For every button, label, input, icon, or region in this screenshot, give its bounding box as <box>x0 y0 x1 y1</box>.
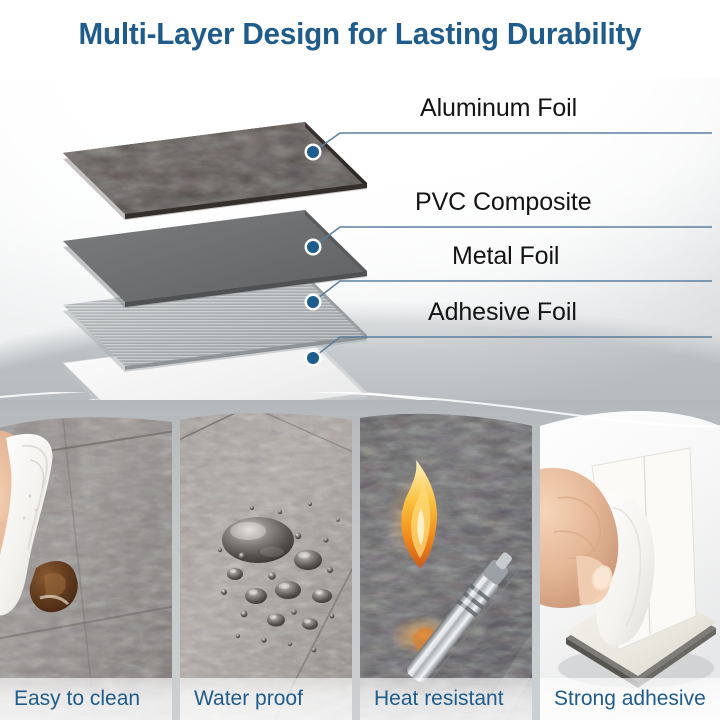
layer-label-aluminum-foil: Aluminum Foil <box>420 94 577 123</box>
feature-panel-heat-resistant[interactable]: Heat resistant <box>360 400 532 720</box>
feature-caption-heat-resistant: Heat resistant <box>360 678 532 720</box>
layer-label-adhesive-foil: Adhesive Foil <box>428 298 577 327</box>
feature-panel-strong-adhesive[interactable]: Strong adhesive <box>540 400 720 720</box>
feature-panel-easy-to-clean[interactable]: Easy to clean <box>0 400 172 720</box>
feature-caption-text: Water proof <box>180 687 303 711</box>
feature-caption-text: Heat resistant <box>360 687 504 711</box>
callout-leader-lines <box>0 0 720 420</box>
feature-panel-strip: Easy to clean <box>0 400 720 720</box>
feature-caption-strong-adhesive: Strong adhesive <box>540 678 720 720</box>
feature-caption-water-proof: Water proof <box>180 678 352 720</box>
feature-caption-easy-to-clean: Easy to clean <box>0 678 172 720</box>
feature-caption-text: Easy to clean <box>0 687 140 711</box>
layer-label-metal-foil: Metal Foil <box>452 242 559 271</box>
feature-caption-text: Strong adhesive <box>540 687 706 711</box>
infographic-canvas: Multi-Layer Design for Lasting Durabilit… <box>0 0 720 720</box>
layer-label-pvc-composite: PVC Composite <box>415 188 592 217</box>
feature-panel-water-proof[interactable]: Water proof <box>180 400 352 720</box>
